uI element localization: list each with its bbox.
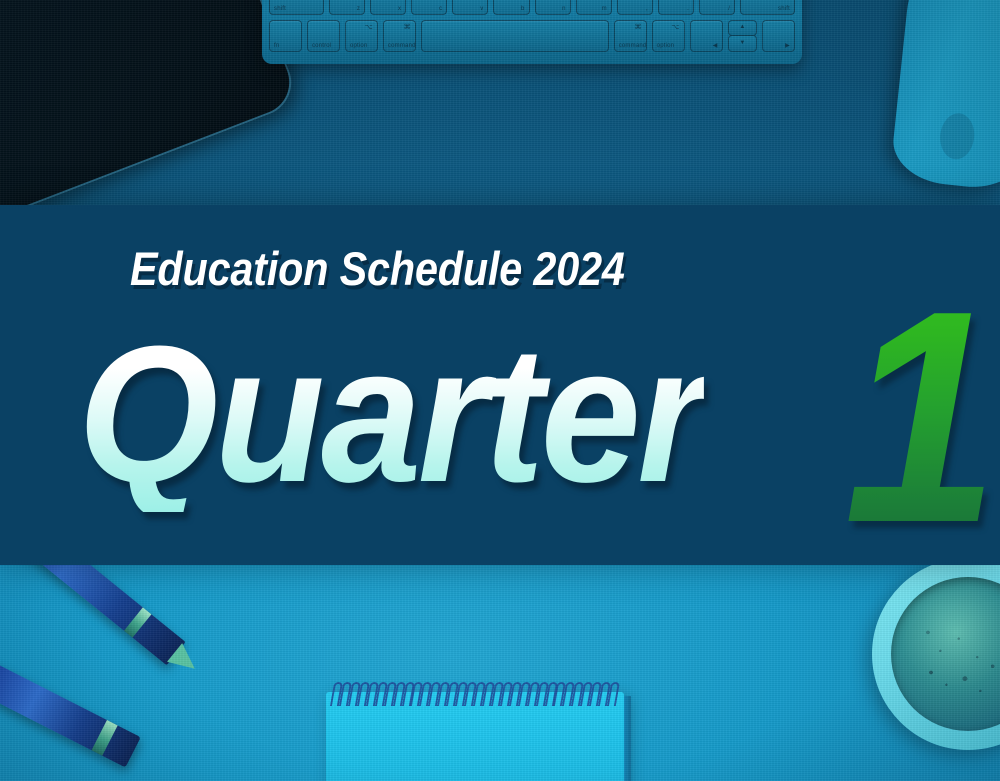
key-b: b [493,0,529,15]
key-shift-left: shift [269,0,324,15]
keyboard-row-modifiers: fn control ⌥option ⌘command ⌘command ⌥op… [269,20,795,52]
poster-subtitle: Education Schedule 2024 [130,245,625,292]
key-label: shift [274,6,286,12]
notebook-spiral-binding [332,682,618,704]
pen-band [124,607,151,637]
key-period: . [658,0,694,15]
key-option-left: ⌥option [345,20,378,52]
key-control-left: control [307,20,340,52]
key-slash: / [699,0,735,15]
key-label: shift [778,6,790,12]
key-label: n [562,6,566,12]
key-label: z [357,6,360,12]
poster-headline: Quarter 1 [78,318,958,538]
key-label: command [388,43,416,49]
key-label: option [350,43,368,49]
key-shift-right: shift [740,0,795,15]
key-label: , [646,6,648,12]
key-label: option [657,43,675,49]
coffee-liquid [891,577,1000,731]
arrow-down-icon: ▼ [728,35,757,52]
key-label: command [619,43,647,49]
key-c: c [411,0,447,15]
arrow-right-icon: ▶ [785,43,790,49]
key-label: c [439,6,442,12]
key-v: v [452,0,488,15]
key-z: z [329,0,365,15]
option-symbol-icon: ⌥ [365,24,373,31]
keyboard: shift z x c v b n m , . / shift fn contr… [262,0,802,64]
key-label: m [602,6,607,12]
key-n: n [535,0,571,15]
education-schedule-poster: shift z x c v b n m , . / shift fn contr… [0,0,1000,781]
key-x: x [370,0,406,15]
computer-mouse [889,0,1000,192]
key-arrow-updown: ▲ ▼ [728,20,757,52]
command-symbol-icon: ⌘ [634,24,641,31]
key-arrow-right: ▶ [762,20,795,52]
key-command-left: ⌘command [383,20,416,52]
key-label: fn [274,43,279,49]
spiral-notebook [326,692,624,781]
arrow-left-icon: ◀ [713,43,718,49]
key-label: x [398,6,401,12]
key-label: control [312,43,331,49]
coffee-foam-bubbles [891,577,1000,731]
command-symbol-icon: ⌘ [404,24,411,31]
key-label: v [480,6,483,12]
notebook-edge [624,696,631,781]
key-arrow-left: ◀ [690,20,723,52]
key-label: b [521,6,525,12]
key-option-right: ⌥option [652,20,685,52]
arrow-up-icon: ▲ [728,20,757,36]
key-m: m [576,0,612,15]
key-label: . [687,6,689,12]
key-fn: fn [269,20,302,52]
option-symbol-icon: ⌥ [671,24,679,31]
key-label: / [728,6,730,12]
headline-word: Quarter [78,318,704,512]
pen-band [92,720,118,756]
coffee-mug [872,558,1000,750]
key-spacebar [421,20,609,52]
keyboard-row-letters: shift z x c v b n m , . / shift [269,0,795,15]
key-command-right: ⌘command [614,20,647,52]
key-comma: , [617,0,653,15]
headline-number: 1 [844,266,999,568]
